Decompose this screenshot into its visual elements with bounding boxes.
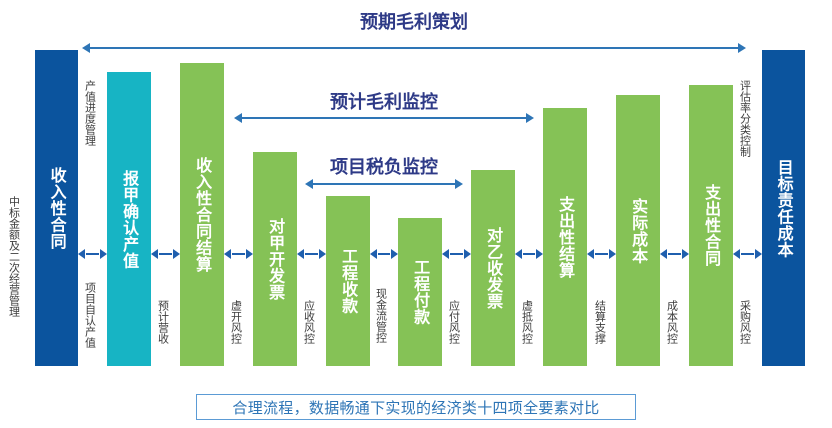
bar-project-receipts[interactable]: 工程收款 [326,196,370,366]
arrow-shaft [450,253,463,255]
bar-label-target-responsibility-cost: 目标责任成本 [775,159,791,258]
arrow-shaft [595,253,608,255]
bar-target-responsibility-cost[interactable]: 目标责任成本 [762,50,805,366]
span-group-estimated-gross-profit-monitoring: 预计毛利监控 [234,88,534,125]
arrow-head-right-icon [526,113,534,123]
gap-note-assessment-rate-classification-control: 评估率分类控制 [739,80,751,157]
span-title-project-tax-burden-monitoring: 项目税负监控 [305,153,463,179]
gap-note-project-self-confirmed-output: 项目自认产值 [84,282,96,348]
arrow-shaft [159,253,172,255]
bar-expense-contract[interactable]: 支出性合同 [689,85,733,366]
arrow-head-right-icon [738,43,746,53]
bar-label-actual-cost: 实际成本 [630,198,646,264]
gap-note-procurement-risk-control: 采购风控 [739,300,751,344]
gap-note-settlement-support: 结算支撑 [594,300,606,344]
bidirectional-arrow-arrow-2 [159,248,172,260]
bar-label-project-payments: 工程付款 [412,259,428,325]
bar-label-income-contract: 收入性合同 [48,167,64,250]
gap-note-false-invoicing-risk-control: 虚开风控 [230,300,242,344]
gap-note-bid-amount-and-secondary-operations-management: 中标金额及二次经营管理 [8,196,20,317]
arrow-head-right-icon [455,179,463,189]
bar-label-expense-contract: 支出性合同 [703,184,719,267]
bar-invoice-to-party-a[interactable]: 对甲开发票 [253,152,297,366]
span-group-expected-gross-profit-planning: 预期毛利策划 [82,8,746,55]
bidirectional-arrow-arrow-9 [668,248,681,260]
arrow-shaft [311,183,457,185]
gap-note-cash-flow-control: 现金流管控 [375,288,387,343]
bar-label-project-receipts: 工程收款 [340,248,356,314]
gap-note-receivable-risk-control: 应收风控 [303,300,315,344]
bar-label-invoice-from-party-b: 对乙收发票 [485,227,501,310]
bottom-caption-text: 合理流程，数据畅通下实现的经济类十四项全要素对比 [232,397,599,418]
arrow-shaft [88,47,740,49]
span-title-expected-gross-profit-planning: 预期毛利策划 [82,8,746,34]
arrow-shaft [86,253,99,255]
bidirectional-arrow-arrow-10 [741,248,754,260]
span-arrow-expected-gross-profit-planning [82,43,746,53]
arrow-shaft [668,253,681,255]
bidirectional-arrow-arrow-7 [523,248,535,260]
arrow-shaft [232,253,245,255]
bar-project-payments[interactable]: 工程付款 [398,218,442,366]
bar-income-contract[interactable]: 收入性合同 [35,50,78,366]
bidirectional-arrow-arrow-8 [595,248,608,260]
span-group-project-tax-burden-monitoring: 项目税负监控 [305,153,463,191]
gap-note-output-progress-management: 产值进度管理 [84,80,96,146]
span-arrow-project-tax-burden-monitoring [305,179,463,189]
gap-note-estimated-revenue: 预计营收 [157,300,169,344]
arrow-shaft [240,117,528,119]
span-title-estimated-gross-profit-monitoring: 预计毛利监控 [234,88,534,114]
bidirectional-arrow-arrow-5 [378,248,390,260]
bidirectional-arrow-arrow-3 [232,248,245,260]
bar-expense-settlement[interactable]: 支出性结算 [543,108,587,366]
bidirectional-arrow-arrow-6 [450,248,463,260]
bar-actual-cost[interactable]: 实际成本 [616,95,660,366]
bidirectional-arrow-arrow-4 [305,248,318,260]
gap-note-false-offset-risk-control: 虚抵风控 [521,300,533,344]
bottom-caption-box: 合理流程，数据畅通下实现的经济类十四项全要素对比 [196,394,636,420]
arrow-shaft [523,253,535,255]
bar-income-contract-settlement[interactable]: 收入性合同结算 [180,63,224,366]
bar-label-income-contract-settlement: 收入性合同结算 [194,157,210,273]
bar-report-a-confirmed-output[interactable]: 报甲确认产值 [107,72,151,366]
arrow-shaft [378,253,390,255]
bidirectional-arrow-arrow-1 [86,248,99,260]
arrow-shaft [741,253,754,255]
gap-note-cost-risk-control: 成本风控 [666,300,678,344]
diagram-canvas: 预期毛利策划预计毛利监控项目税负监控 收入性合同报甲确认产值收入性合同结算对甲开… [0,0,832,428]
bar-invoice-from-party-b[interactable]: 对乙收发票 [471,170,515,366]
bar-label-invoice-to-party-a: 对甲开发票 [267,218,283,301]
gap-note-payable-risk-control: 应付风控 [448,300,460,344]
bar-label-expense-settlement: 支出性结算 [557,196,573,279]
span-arrow-estimated-gross-profit-monitoring [234,113,534,123]
arrow-shaft [305,253,318,255]
bar-label-report-a-confirmed-output: 报甲确认产值 [121,170,137,269]
